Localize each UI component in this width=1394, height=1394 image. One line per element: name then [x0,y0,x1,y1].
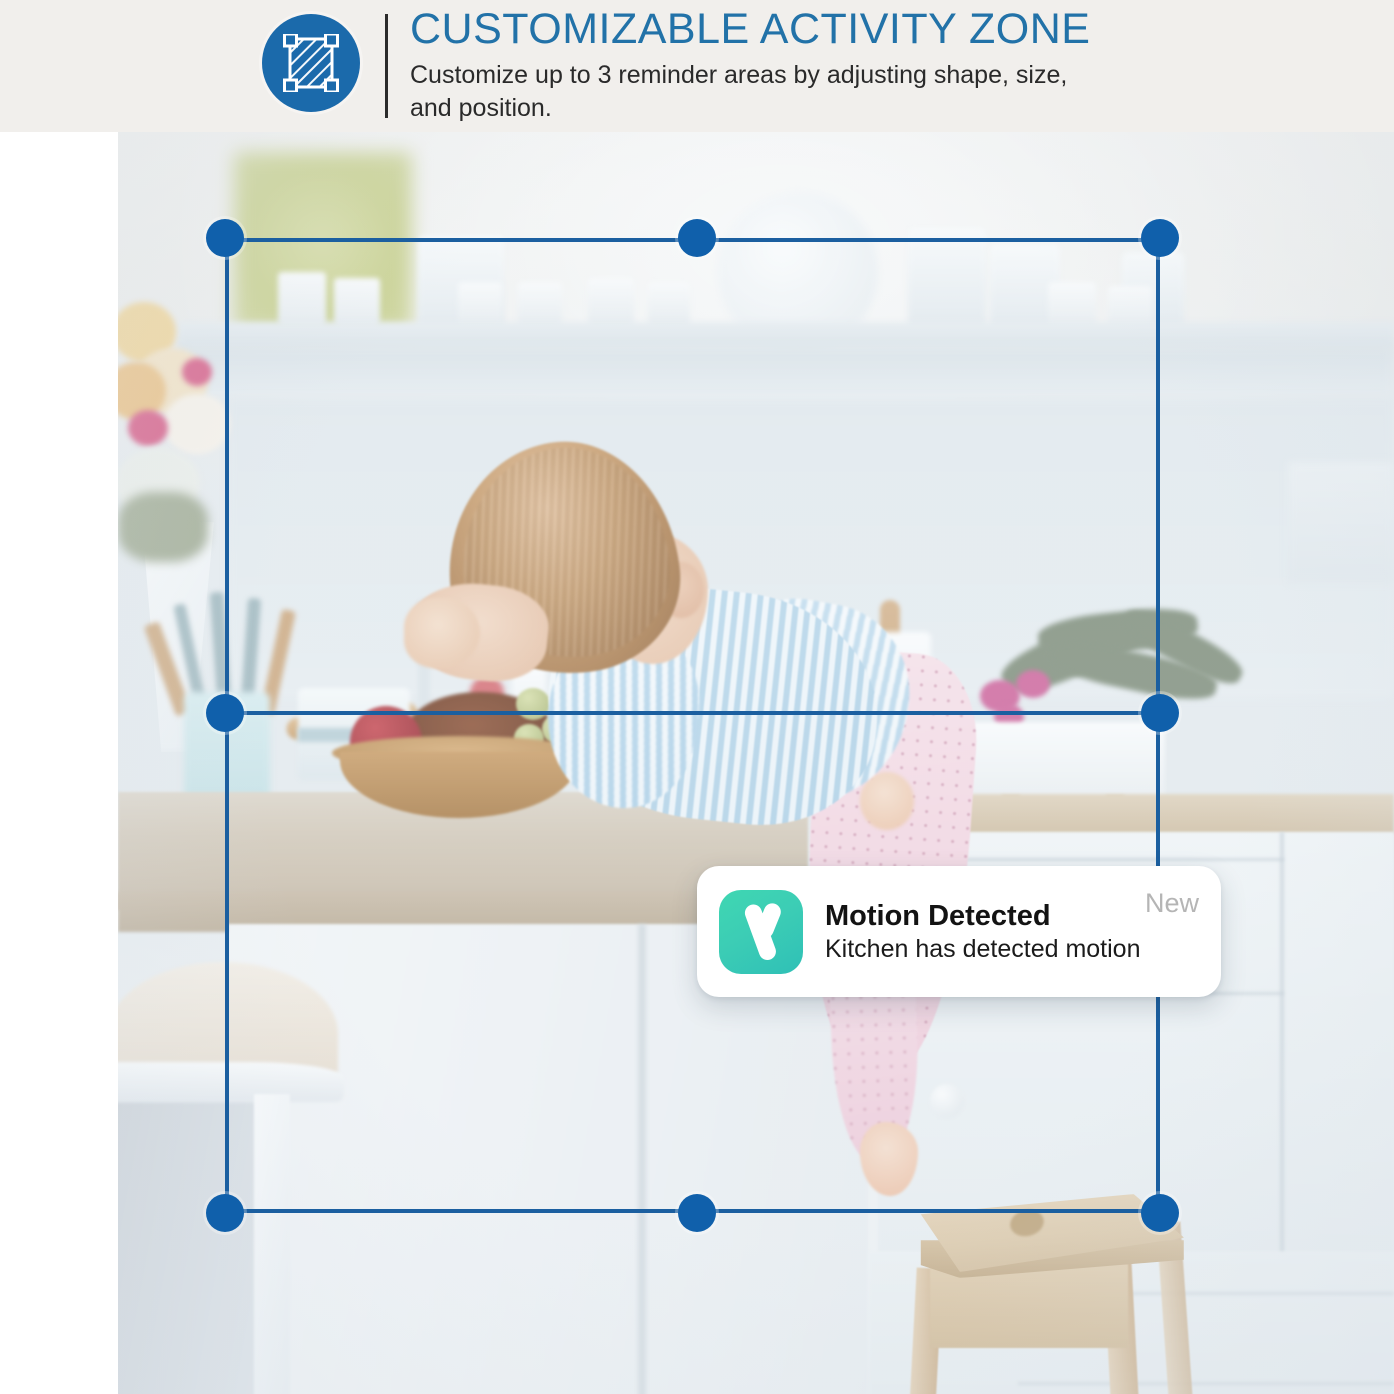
handle-bottom-center[interactable] [678,1194,716,1232]
notification-new-badge: New [1135,888,1199,919]
flower-leaves [118,492,208,562]
notification-message: Kitchen has detected motion [825,933,1135,965]
handle-middle-right[interactable] [1141,694,1179,732]
feature-subtitle: Customize up to 3 reminder areas by adju… [410,59,1110,125]
handle-top-right[interactable] [1141,219,1179,257]
product-feature-banner: CUSTOMIZABLE ACTIVITY ZONE Customize up … [0,0,1394,1394]
header-text-block: CUSTOMIZABLE ACTIVITY ZONE Customize up … [410,2,1290,125]
cabinet-seam-3 [1280,832,1284,1252]
feature-header: CUSTOMIZABLE ACTIVITY ZONE Customize up … [0,0,1394,132]
activity-zone-icon-wrap [256,8,366,118]
handle-top-left[interactable] [206,219,244,257]
v-app-icon [719,890,803,974]
feature-title: CUSTOMIZABLE ACTIVITY ZONE [410,2,1290,56]
back-cabinet-edge [1288,462,1394,582]
handle-top-center[interactable] [678,219,716,257]
header-divider [385,14,388,118]
activity-zone-icon [262,14,360,112]
handle-bottom-left[interactable] [206,1194,244,1232]
motion-notification-card[interactable]: Motion Detected Kitchen has detected mot… [697,866,1221,997]
flower-center-1 [128,410,168,446]
floor-seam-2 [1018,1382,1394,1385]
handle-bottom-right[interactable] [1141,1194,1179,1232]
flower-petal-4 [164,394,230,454]
notification-text-block: Motion Detected Kitchen has detected mot… [803,899,1135,965]
handle-middle-left[interactable] [206,694,244,732]
flower-center-2 [182,358,212,386]
notification-title: Motion Detected [825,899,1135,933]
activity-zone-midline [229,711,1156,715]
activity-zone-rectangle[interactable] [225,238,1160,1213]
